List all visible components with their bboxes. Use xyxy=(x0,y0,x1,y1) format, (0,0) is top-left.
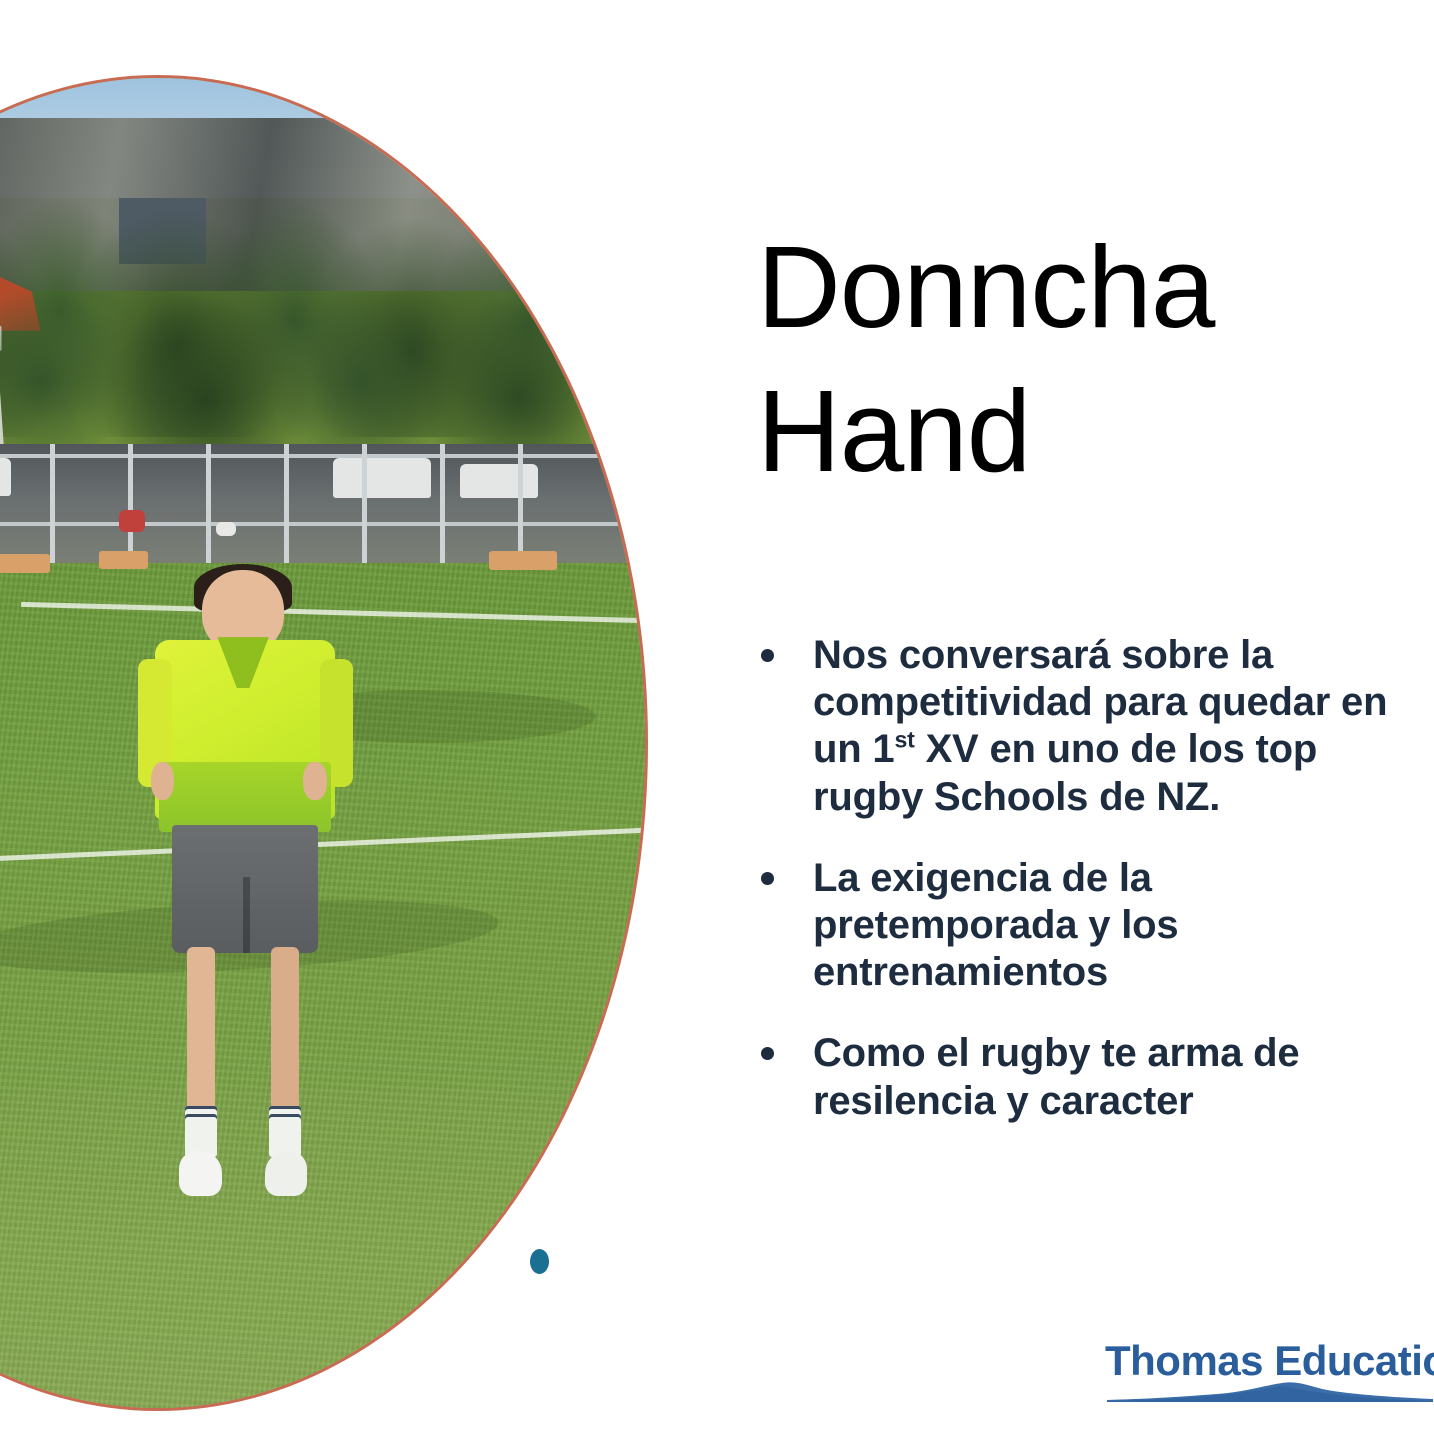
bullet-list: Nos conversará sobre la competitividad p… xyxy=(752,632,1422,1159)
fence-post xyxy=(50,444,55,570)
fence-rail xyxy=(0,454,645,458)
photo-canvas xyxy=(0,78,645,1408)
rugby-coaching-photo xyxy=(0,78,645,1408)
bullet-superscript: st xyxy=(894,727,914,753)
coach-right-shoe xyxy=(265,1151,308,1196)
car-icon xyxy=(0,458,11,495)
bullet-text: Nos conversará sobre la competitividad p… xyxy=(813,632,1422,821)
bullet-dot-icon xyxy=(761,1047,774,1060)
training-cone-icon xyxy=(0,554,50,573)
coach-left-hand xyxy=(151,762,175,800)
car-icon xyxy=(333,458,431,498)
fence-post xyxy=(440,444,445,570)
fence-post xyxy=(362,444,367,570)
accent-dot xyxy=(530,1249,549,1274)
coach-shorts-split xyxy=(243,877,249,954)
car-icon xyxy=(460,464,538,499)
presentation-slide: Donncha Hand Nos conversará sobre la com… xyxy=(0,0,1434,1447)
background-person xyxy=(119,510,145,532)
slide-content-column: Donncha Hand Nos conversará sobre la com… xyxy=(752,0,1434,1447)
fence-post xyxy=(206,444,211,570)
bullet-dot-icon xyxy=(761,872,774,885)
fence-rail xyxy=(0,522,645,526)
fence-post xyxy=(284,444,289,570)
background-person xyxy=(216,522,236,536)
list-item: Nos conversará sobre la competitividad p… xyxy=(752,632,1422,821)
page-title: Donncha Hand xyxy=(757,216,1417,504)
list-item: Como el rugby te arma de resilencia y ca… xyxy=(752,1030,1422,1124)
training-cone-icon xyxy=(489,551,557,570)
bullet-text: La exigencia de la pretemporada y los en… xyxy=(813,855,1422,997)
list-item: La exigencia de la pretemporada y los en… xyxy=(752,855,1422,997)
coach-left-leg xyxy=(187,947,215,1126)
coach-left-shoe xyxy=(179,1151,222,1196)
coach-left-sock xyxy=(185,1106,217,1157)
thomas-education-logo: Thomas Education xyxy=(1105,1337,1434,1407)
coach-figure xyxy=(138,570,353,1208)
mountain-hill-icon xyxy=(1107,1380,1433,1402)
logo-wordmark: Thomas Education xyxy=(1105,1337,1434,1385)
coach-right-leg xyxy=(271,947,299,1126)
coach-right-hand xyxy=(303,762,327,800)
bullet-dot-icon xyxy=(761,649,774,662)
coach-right-sock xyxy=(269,1106,301,1157)
bullet-text: Como el rugby te arma de resilencia y ca… xyxy=(813,1030,1422,1124)
training-cone-icon xyxy=(99,551,148,568)
